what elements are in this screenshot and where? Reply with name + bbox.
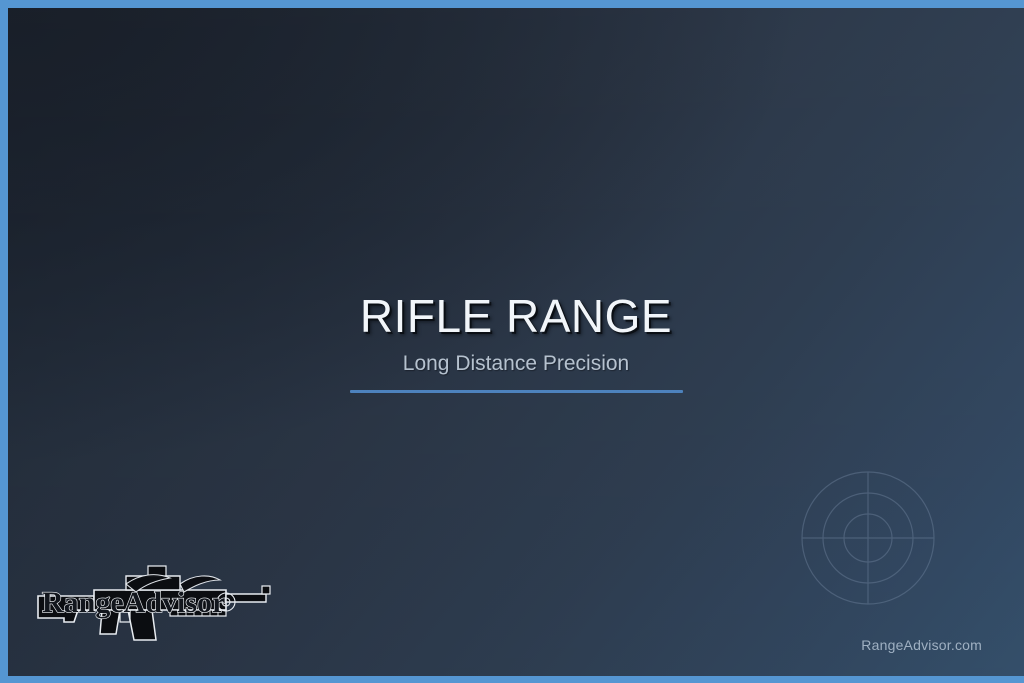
rangeadvisor-logo: RangeAdvisor bbox=[30, 560, 280, 648]
page-subtitle: Long Distance Precision bbox=[8, 353, 1024, 374]
page-title: RIFLE RANGE bbox=[8, 293, 1024, 339]
title-block: RIFLE RANGE Long Distance Precision bbox=[8, 293, 1024, 393]
rifle-silhouette-icon: RangeAdvisor bbox=[38, 566, 270, 640]
title-divider bbox=[350, 390, 683, 393]
watermark-text: RangeAdvisor.com bbox=[861, 637, 982, 653]
logo-wordmark: RangeAdvisor bbox=[42, 586, 225, 619]
presentation-slide: RIFLE RANGE Long Distance Precision Rang… bbox=[0, 0, 1024, 683]
